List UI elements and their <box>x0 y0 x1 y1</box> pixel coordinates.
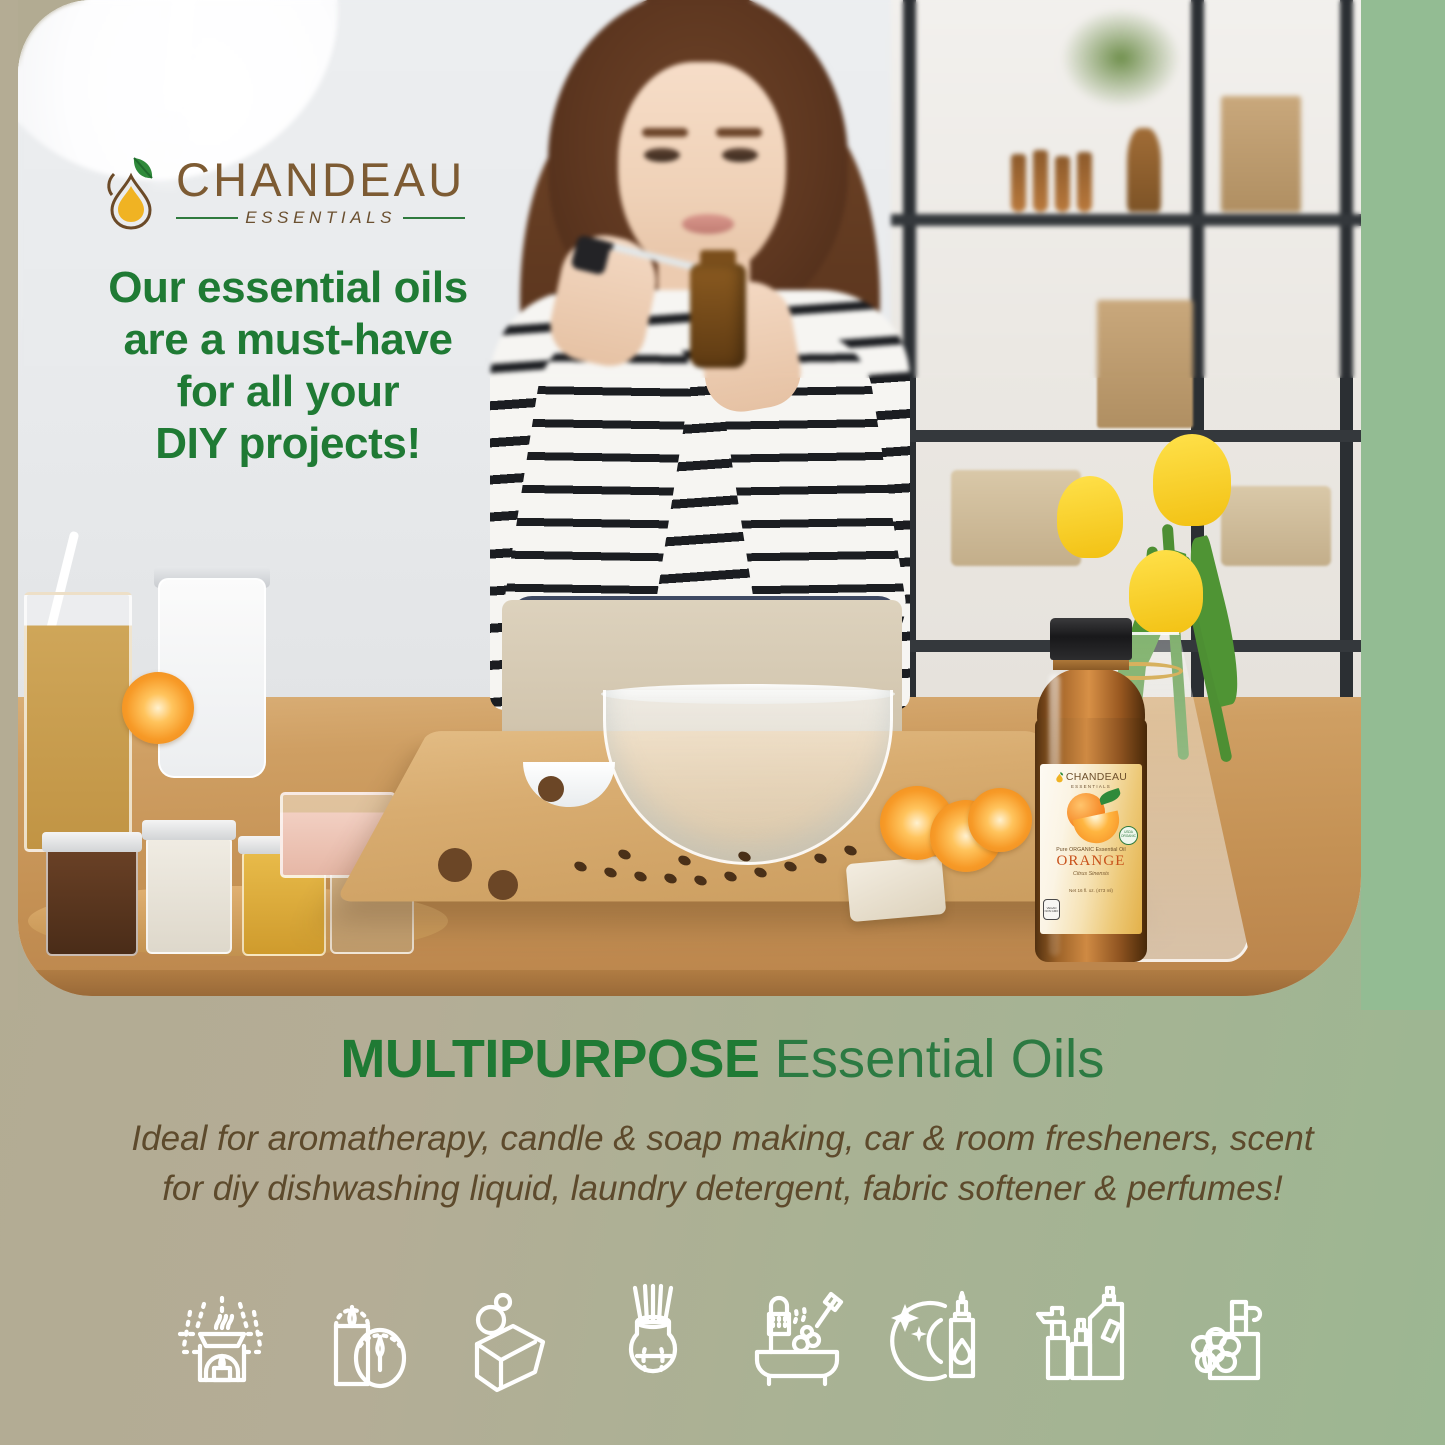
description-line: Ideal for aromatherapy, candle & soap ma… <box>48 1114 1397 1164</box>
label-botanical-name: Citrus Sinensis <box>1073 871 1109 877</box>
spice-jar <box>46 846 138 956</box>
panel-title: MULTIPURPOSE Essential Oils <box>0 1032 1445 1086</box>
star-anise <box>438 848 472 882</box>
product-label: CHANDEAU ESSENTIALS Pure ORGANIC Essenti… <box>1040 764 1142 934</box>
woman-with-dropper <box>450 0 930 760</box>
brand-logo: CHANDEAU ESSENTIALS <box>100 140 480 244</box>
label-logo: CHANDEAU <box>1055 771 1127 783</box>
ad-canvas: CHANDEAU ESSENTIALS Our essential oils a… <box>0 0 1445 1445</box>
label-product-name: ORANGE <box>1056 854 1125 869</box>
usda-organic-seal-icon: USDA ORGANIC <box>1119 826 1138 845</box>
right-border-accent <box>1361 0 1445 1010</box>
label-brand-name: CHANDEAU <box>1066 771 1127 783</box>
vegan-nongmo-seal-icon: VEGAN NON GMO <box>1043 899 1060 920</box>
logo-subtitle-row: ESSENTIALS <box>176 208 465 228</box>
logo-rule-left <box>176 217 238 219</box>
hero-photo: CHANDEAU ESSENTIALS Our essential oils a… <box>18 0 1361 996</box>
label-net-contents: Net 16 fl. oz. (473 ml) <box>1069 888 1113 893</box>
orange-illustration <box>1053 791 1129 845</box>
laundry-bottles-icon <box>1032 1282 1136 1394</box>
panel-title-bold: MULTIPURPOSE <box>340 1029 759 1089</box>
table-edge <box>18 970 1361 996</box>
bath-dropper-icon <box>745 1282 849 1394</box>
logo-rule-right <box>403 217 465 219</box>
soap-bar <box>846 856 947 922</box>
yellow-tulip <box>1153 434 1231 526</box>
orange-half <box>122 672 194 744</box>
perfume-flower-icon <box>1176 1282 1280 1394</box>
logo-wordmark: CHANDEAU <box>176 156 465 203</box>
bottle-cap <box>1050 618 1132 660</box>
yellow-tulip <box>1057 476 1123 558</box>
candles-icon <box>314 1282 418 1394</box>
star-anise <box>488 870 518 900</box>
soap-bar-icon <box>457 1282 561 1394</box>
hero-headline: Our essential oils are a must-have for a… <box>88 262 488 470</box>
description-line: for diy dishwashing liquid, laundry dete… <box>48 1164 1397 1214</box>
dish-soap-sparkle-icon <box>889 1282 993 1394</box>
left-border-accent <box>0 0 18 1010</box>
oil-drop-leaf-icon <box>100 152 162 232</box>
oil-burner-icon <box>170 1282 274 1394</box>
headline-line: Our essential oils <box>88 262 488 314</box>
spice-jar <box>146 836 232 954</box>
label-brand-sub: ESSENTIALS <box>1071 784 1111 789</box>
shelving-unit <box>891 0 1361 700</box>
headline-line: for all your <box>88 366 488 418</box>
star-anise <box>538 776 564 802</box>
panel-description: Ideal for aromatherapy, candle & soap ma… <box>48 1114 1397 1213</box>
reed-diffuser-icon <box>601 1282 705 1394</box>
use-case-icon-strip <box>170 1268 1280 1408</box>
label-drop-icon <box>1055 771 1064 783</box>
product-bottle: CHANDEAU ESSENTIALS Pure ORGANIC Essenti… <box>1023 618 1159 966</box>
headline-line: DIY projects! <box>88 418 488 470</box>
headline-line: are a must-have <box>88 314 488 366</box>
panel-title-light: Essential Oils <box>759 1029 1104 1089</box>
logo-subtitle: ESSENTIALS <box>245 208 396 228</box>
bottom-info-panel: MULTIPURPOSE Essential Oils Ideal for ar… <box>0 996 1445 1445</box>
grain-cylinder <box>24 592 132 852</box>
bottle-collar <box>1053 659 1129 670</box>
amber-dropper-bottle <box>690 264 746 368</box>
